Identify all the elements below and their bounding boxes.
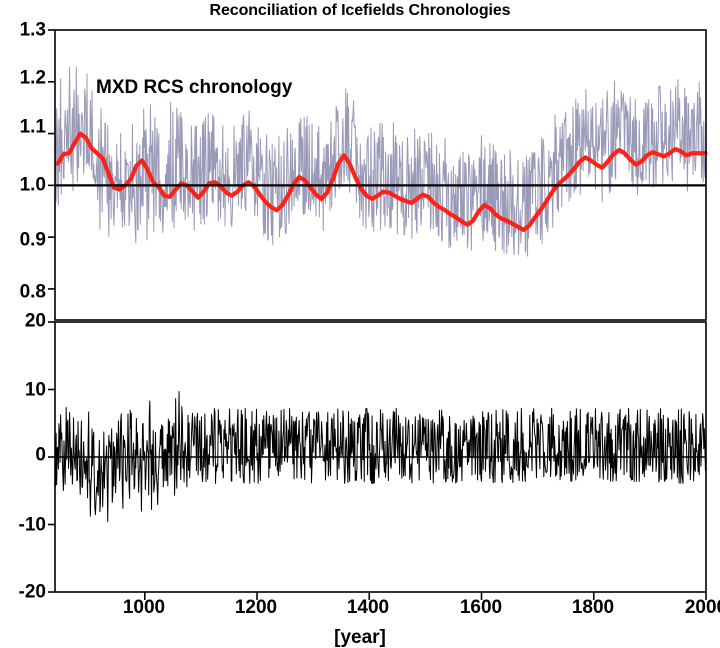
plot-canvas — [0, 0, 720, 640]
chart-figure: Reconciliation of Icefields Chronologies… — [0, 0, 720, 640]
axes-layer — [48, 30, 706, 600]
series-layer — [55, 67, 706, 521]
